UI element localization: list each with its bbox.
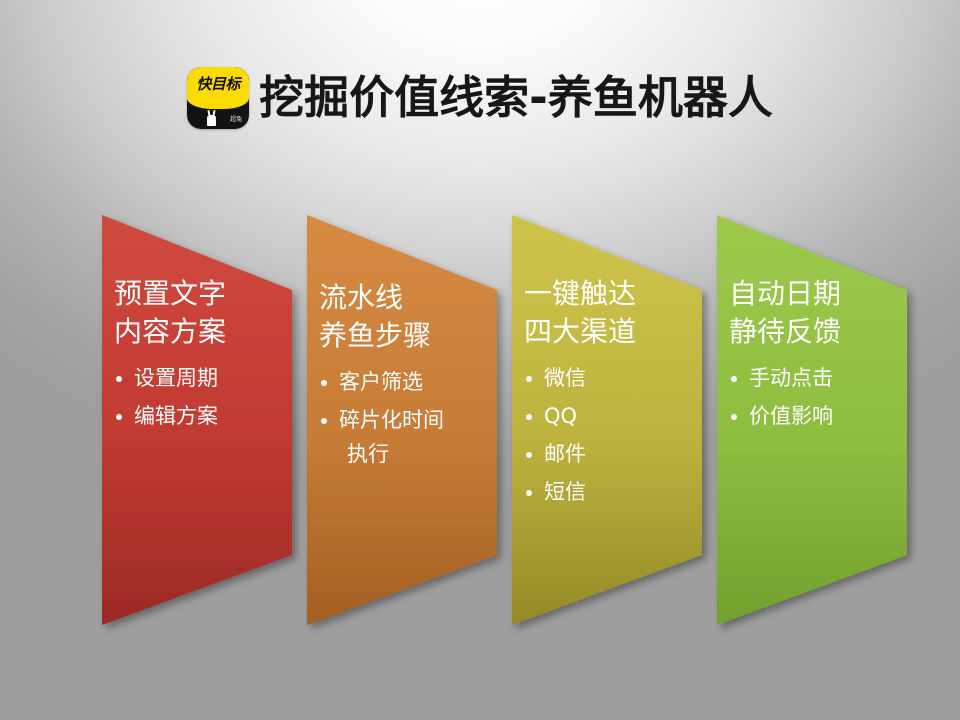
list-item-line-1: 碎片化时间 bbox=[339, 408, 444, 432]
list-item: 微信 bbox=[524, 361, 675, 395]
process-step-2-heading: 流水线 养鱼步骤 bbox=[319, 279, 470, 355]
list-item-line-2: 执行 bbox=[339, 437, 470, 471]
process-step-4-content: 自动日期 静待反馈 手动点击 价值影响 bbox=[711, 205, 886, 635]
list-item: 邮件 bbox=[524, 437, 675, 471]
process-step-2[interactable]: 流水线 养鱼步骤 客户筛选 碎片化时间 执行 bbox=[301, 205, 513, 635]
list-item: QQ bbox=[524, 399, 675, 433]
list-item: 碎片化时间 执行 bbox=[319, 403, 470, 471]
process-step-3-heading: 一键触达 四大渠道 bbox=[524, 275, 675, 351]
slide-canvas: 快目标 超兔 挖掘价值线索-养鱼机器人 bbox=[0, 0, 960, 720]
process-step-1-heading: 预置文字 内容方案 bbox=[114, 275, 265, 351]
list-item: 编辑方案 bbox=[114, 399, 265, 433]
process-chevron-group: 预置文字 内容方案 设置周期 编辑方案 bbox=[0, 0, 960, 720]
process-step-2-content: 流水线 养鱼步骤 客户筛选 碎片化时间 执行 bbox=[301, 205, 476, 635]
process-step-3-content: 一键触达 四大渠道 微信 QQ 邮件 短信 bbox=[506, 205, 681, 635]
process-step-1[interactable]: 预置文字 内容方案 设置周期 编辑方案 bbox=[96, 205, 308, 635]
process-step-1-content: 预置文字 内容方案 设置周期 编辑方案 bbox=[96, 205, 271, 635]
process-step-3-bullets: 微信 QQ 邮件 短信 bbox=[524, 361, 675, 509]
process-step-4-heading: 自动日期 静待反馈 bbox=[729, 275, 880, 351]
list-item: 设置周期 bbox=[114, 361, 265, 395]
process-step-4[interactable]: 自动日期 静待反馈 手动点击 价值影响 bbox=[711, 205, 923, 635]
process-step-1-bullets: 设置周期 编辑方案 bbox=[114, 361, 265, 433]
process-step-3[interactable]: 一键触达 四大渠道 微信 QQ 邮件 短信 bbox=[506, 205, 718, 635]
list-item: 短信 bbox=[524, 475, 675, 509]
list-item: 价值影响 bbox=[729, 399, 880, 433]
list-item: 客户筛选 bbox=[319, 365, 470, 399]
process-step-2-bullets: 客户筛选 碎片化时间 执行 bbox=[319, 365, 470, 471]
process-step-4-bullets: 手动点击 价值影响 bbox=[729, 361, 880, 433]
list-item: 手动点击 bbox=[729, 361, 880, 395]
